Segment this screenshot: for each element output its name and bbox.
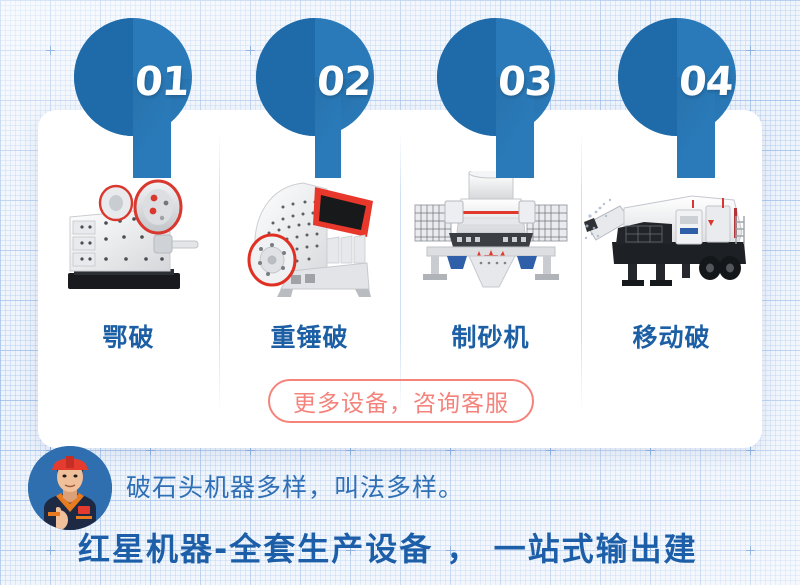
step-badge-2: 02 xyxy=(256,18,374,178)
footer-subline: 破石头机器多样，叫法多样。 xyxy=(126,468,464,504)
sand-making-machine-image xyxy=(400,158,581,308)
badge-left-half xyxy=(74,18,133,136)
step-badge-4: 04 xyxy=(618,18,736,178)
mobile-crusher-image xyxy=(581,158,762,308)
badge-left-half xyxy=(618,18,677,136)
badge-number: 04 xyxy=(678,62,734,102)
product-label: 制砂机 xyxy=(400,318,581,354)
contact-support-button[interactable]: 更多设备，咨询客服 xyxy=(268,379,534,423)
product-label: 鄂破 xyxy=(38,318,219,354)
badge-left-half xyxy=(256,18,315,136)
badge-number: 02 xyxy=(316,62,372,102)
product-label: 重锤破 xyxy=(219,318,400,354)
contact-support-label: 更多设备，咨询客服 xyxy=(293,384,509,418)
badge-left-half xyxy=(437,18,496,136)
hammer-crusher-image xyxy=(219,158,400,308)
step-badge-3: 03 xyxy=(437,18,555,178)
badge-number: 03 xyxy=(497,62,553,102)
jaw-crusher-image xyxy=(38,158,219,308)
engineer-avatar xyxy=(28,446,112,530)
footer-headline: 红星机器-全套生产设备 ， 一站式输出建 xyxy=(78,524,698,570)
step-badge-1: 01 xyxy=(74,18,192,178)
product-label: 移动破 xyxy=(581,318,762,354)
badge-number: 01 xyxy=(134,62,190,102)
